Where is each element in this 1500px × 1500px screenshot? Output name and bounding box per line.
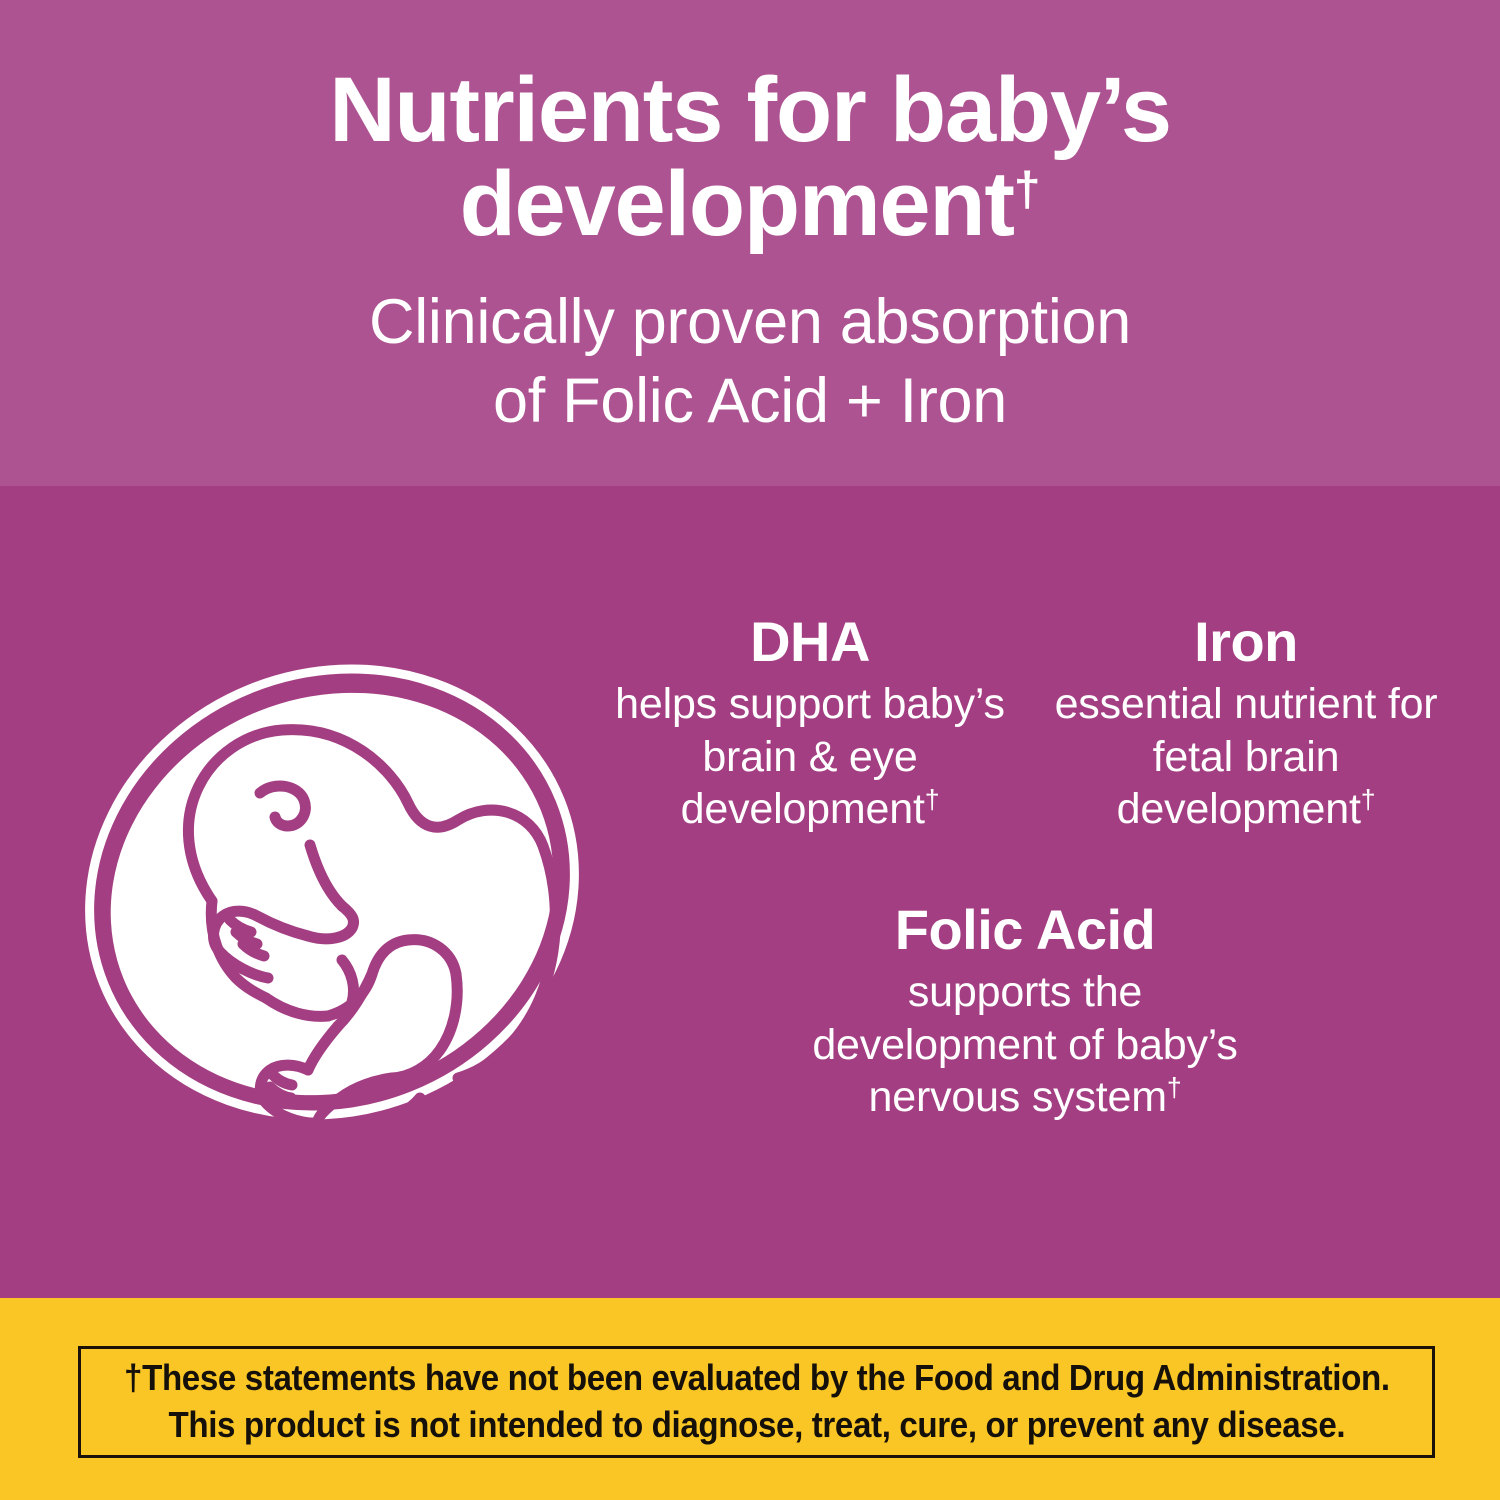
nutrient-block-dha: DHA helps support baby’s brain & eye dev…	[600, 612, 1020, 836]
page-subtitle: Clinically proven absorption of Folic Ac…	[150, 283, 1350, 441]
fda-disclaimer-line-1: †These statements have not been evaluate…	[124, 1355, 1390, 1402]
fda-disclaimer-box: †These statements have not been evaluate…	[78, 1346, 1435, 1458]
nutrient-dagger-marker-dha: †	[925, 785, 940, 815]
nutrient-block-iron: Iron essential nutrient for fetal brain …	[1040, 612, 1452, 836]
page-title-dagger-marker: †	[1014, 163, 1041, 216]
nutrient-title-iron: Iron	[1040, 612, 1452, 672]
nutrient-title-dha: DHA	[600, 612, 1020, 672]
page-subtitle-line-1: Clinically proven absorption	[150, 283, 1350, 362]
nutrient-description-dha-text: helps support baby’s brain & eye develop…	[615, 680, 1005, 833]
page-title-text: Nutrients for baby’s development	[329, 59, 1171, 255]
nutrient-dagger-marker-iron: †	[1361, 785, 1376, 815]
nutrient-description-folic-acid: supports the development of baby’s nervo…	[808, 966, 1242, 1123]
product-infographic: Nutrients for baby’s development† Clinic…	[0, 0, 1500, 1500]
fda-disclaimer-text: †These statements have not been evaluate…	[124, 1355, 1390, 1449]
nutrient-description-iron-text: essential nutrient for fetal brain devel…	[1055, 680, 1438, 833]
page-title: Nutrients for baby’s development†	[120, 64, 1380, 252]
fetus-in-womb-icon	[60, 620, 605, 1165]
nutrient-block-folic-acid: Folic Acid supports the development of b…	[808, 900, 1242, 1124]
nutrient-description-iron: essential nutrient for fetal brain devel…	[1040, 678, 1452, 835]
nutrient-dagger-marker-folic-acid: †	[1167, 1073, 1182, 1103]
fda-disclaimer-line-2: This product is not intended to diagnose…	[124, 1402, 1390, 1449]
nutrient-description-dha: helps support baby’s brain & eye develop…	[600, 678, 1020, 835]
nutrient-title-folic-acid: Folic Acid	[808, 900, 1242, 960]
page-subtitle-line-2: of Folic Acid + Iron	[150, 362, 1350, 441]
